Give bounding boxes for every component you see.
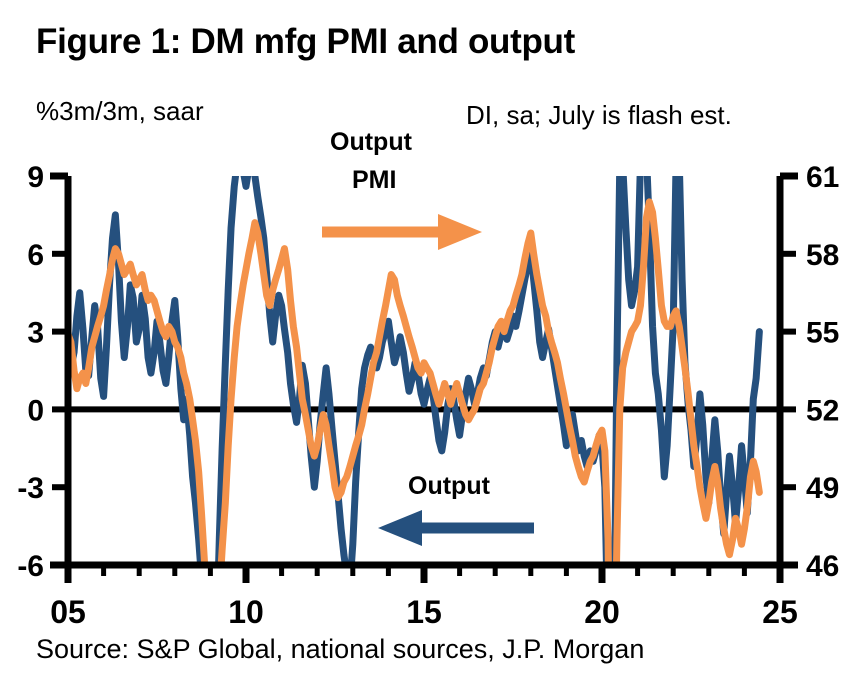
y2-axis-tick-label: 58 xyxy=(806,239,839,272)
y2-axis-tick-label: 55 xyxy=(806,317,839,350)
x-axis-tick-label: 20 xyxy=(584,594,620,630)
y2-axis-tick-label: 46 xyxy=(806,550,839,583)
x-axis-tick-label: 25 xyxy=(762,594,798,630)
y-axis-tick-label: -3 xyxy=(17,472,44,505)
source-note: Source: S&P Global, national sources, J.… xyxy=(36,634,644,665)
x-axis-tick-label: 10 xyxy=(228,594,264,630)
y-axis-tick-label: 9 xyxy=(27,161,44,194)
x-axis-tick-label: 05 xyxy=(50,594,86,630)
pmi-arrow-head-icon xyxy=(438,214,482,250)
chart-plot: -6-303694649525558610510152025 xyxy=(0,0,852,689)
y2-axis-tick-label: 49 xyxy=(806,472,839,505)
y-axis-tick-label: 0 xyxy=(27,394,44,427)
figure-container: Figure 1: DM mfg PMI and output %3m/3m, … xyxy=(0,0,852,689)
y2-axis-tick-label: 61 xyxy=(806,161,839,194)
y-axis-tick-label: 6 xyxy=(27,239,44,272)
output-arrow-head-icon xyxy=(378,510,422,546)
y-axis-tick-label: -6 xyxy=(17,550,44,583)
x-axis-tick-label: 15 xyxy=(406,594,442,630)
y-axis-tick-label: 3 xyxy=(27,317,44,350)
y2-axis-tick-label: 52 xyxy=(806,394,839,427)
